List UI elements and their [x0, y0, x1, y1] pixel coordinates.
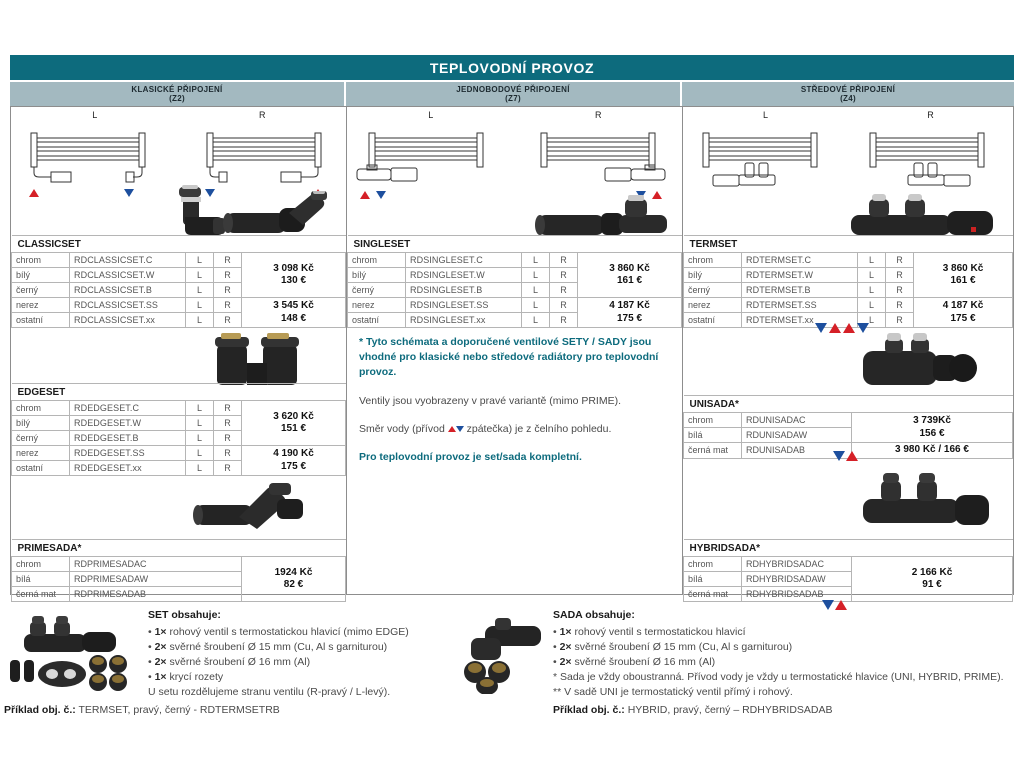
table-classicset: CLASSICSET chrom RDCLASSICSET.C L R 3 09…: [11, 235, 346, 328]
right-cell: R: [214, 461, 242, 476]
supply-marker-red: [448, 426, 456, 432]
left-cell: L: [186, 283, 214, 298]
diagram-right-label: R: [848, 110, 1013, 123]
code-cell: RDSINGLESET.W: [406, 268, 522, 283]
price-eur: 175 €: [918, 313, 1008, 326]
text: rohový ventil s termostatickou hlavicí: [575, 626, 746, 638]
table-edgeset: EDGESET chrom RDEDGESET.C L R 3 620 Kč 1…: [11, 383, 346, 476]
left-cell: L: [186, 298, 214, 313]
code-cell: RDCLASSICSET.B: [70, 283, 186, 298]
diagram-left-label: L: [683, 110, 848, 123]
qty: 1×: [155, 671, 167, 683]
left-cell: L: [522, 268, 550, 283]
main-banner: TEPLOVODNÍ PROVOZ: [10, 55, 1014, 80]
diagram-center: L: [683, 107, 1013, 235]
edgeset-title: EDGESET: [12, 384, 346, 401]
code-cell: RDUNISADAC: [742, 413, 852, 428]
table-row: nerez RDTERMSET.SS L R 4 187 Kč 175 €: [684, 298, 1013, 313]
singleset-title: SINGLESET: [348, 236, 682, 253]
finish-cell: chrom: [684, 557, 742, 572]
info-note: * Tyto schémata a doporučené ventilové S…: [359, 335, 671, 478]
table-row: chrom RDSINGLESET.C L R 3 860 Kč 161 €: [348, 253, 682, 268]
price-cell: 2 166 Kč 91 €: [852, 557, 1013, 602]
qty: 2×: [560, 641, 572, 653]
left-cell: L: [186, 431, 214, 446]
column-header-center: STŘEDOVÉ PŘIPOJENÍ (Z4): [682, 82, 1014, 106]
qty: 1×: [155, 626, 167, 638]
finish-cell: nerez: [12, 298, 70, 313]
left-cell: L: [186, 313, 214, 328]
table-primesada: PRIMESADA* chrom RDPRIMESADAC 1924 Kč 82…: [11, 539, 346, 602]
qty: 2×: [560, 656, 572, 668]
code-cell: RDTERMSET.B: [742, 283, 858, 298]
supply-marker-red: [846, 451, 858, 461]
example-set-value: TERMSET, pravý, černý - RDTERMSETRB: [79, 704, 280, 716]
text: rohový ventil s termostatickou hlavicí (…: [170, 626, 409, 638]
classicset-title: CLASSICSET: [12, 236, 346, 253]
text: krycí rozety: [170, 671, 224, 683]
left-cell: L: [522, 298, 550, 313]
left-cell: L: [858, 253, 886, 268]
column-single: L: [347, 107, 683, 594]
product-photo-sada-contents: [455, 616, 551, 694]
radiator-schematic-center-left: [683, 123, 848, 203]
left-cell: L: [186, 268, 214, 283]
product-photo-unisada: [859, 331, 983, 395]
product-photo-classicset-valve: [219, 191, 329, 239]
code-cell: RDTERMSET.C: [742, 253, 858, 268]
bottom-legend: SET obsahuje: • 1× rohový ventil s termo…: [0, 604, 1024, 768]
right-cell: R: [550, 313, 578, 328]
finish-cell: bílý: [12, 416, 70, 431]
price-czk: 3 098 Kč: [246, 263, 341, 276]
diagram-left-label: L: [347, 110, 515, 123]
list-item: • 2× svěrné šroubení Ø 15 mm (Cu, Al s g…: [553, 640, 1023, 655]
legend-sada-heading: SADA obsahuje:: [553, 608, 1023, 623]
price-czk: 3 620 Kč: [246, 411, 341, 424]
left-cell: L: [522, 313, 550, 328]
table-row: nerez RDCLASSICSET.SS L R 3 545 Kč 148 €: [12, 298, 346, 313]
code-cell: RDEDGESET.W: [70, 416, 186, 431]
right-cell: R: [214, 431, 242, 446]
code-cell: RDPRIMESADAW: [70, 572, 242, 587]
table-termset: TERMSET chrom RDTERMSET.C L R 3 860 Kč 1…: [683, 235, 1013, 328]
finish-cell: bílý: [684, 268, 742, 283]
code-cell: RDHYBRIDSADAC: [742, 557, 852, 572]
text: svěrné šroubení Ø 15 mm (Cu, Al s garnit…: [170, 641, 388, 653]
example-sada-label: Příklad obj. č.:: [553, 704, 625, 716]
finish-cell: černý: [12, 283, 70, 298]
price-cell: 4 187 Kč 175 €: [578, 298, 682, 328]
product-photo-set-contents: [6, 612, 142, 696]
finish-cell: ostatní: [348, 313, 406, 328]
qty: 2×: [155, 656, 167, 668]
catalog-page: TEPLOVODNÍ PROVOZ KLASICKÉ PŘIPOJENÍ (Z2…: [0, 0, 1024, 768]
price-cell: 3 620 Kč 151 €: [242, 401, 346, 446]
column-center: L: [683, 107, 1013, 594]
left-cell: L: [186, 446, 214, 461]
diagram-single: L: [347, 107, 682, 235]
code-cell: RDTERMSET.SS: [742, 298, 858, 313]
example-sada: Příklad obj. č.: HYBRID, pravý, černý – …: [553, 704, 833, 716]
right-cell: R: [886, 298, 914, 313]
table-row: chrom RDCLASSICSET.C L R 3 098 Kč 130 €: [12, 253, 346, 268]
code-cell: RDCLASSICSET.W: [70, 268, 186, 283]
code-cell: RDUNISADAW: [742, 428, 852, 443]
table-row: nerez RDEDGESET.SS L R 4 190 Kč 175 €: [12, 446, 346, 461]
finish-cell: chrom: [12, 401, 70, 416]
price-czk: 3 860 Kč: [918, 263, 1008, 276]
note-final-line: Pro teplovodní provoz je set/sada komple…: [359, 450, 671, 465]
supply-marker-red: [829, 323, 841, 333]
table-row: chrom RDTERMSET.C L R 3 860 Kč 161 €: [684, 253, 1013, 268]
product-photo-edgeset: [207, 329, 311, 389]
finish-cell: černá mat: [684, 587, 742, 602]
supply-marker-red: [360, 191, 370, 199]
table-unisada: UNISADA* chrom RDUNISADAC 3 739Kč 156 € …: [683, 395, 1013, 459]
legend-sada-footnote-2: ** V sadě UNI je termostatický ventil př…: [553, 685, 1023, 700]
code-cell: RDPRIMESADAB: [70, 587, 242, 602]
code-cell: RDSINGLESET.xx: [406, 313, 522, 328]
price-cell: 3 860 Kč 161 €: [914, 253, 1013, 298]
price-cell: 3 545 Kč 148 €: [242, 298, 346, 328]
price-cell: 4 190 Kč 175 €: [242, 446, 346, 476]
product-photo-hybridsada: [859, 467, 993, 539]
return-marker-blue: [376, 191, 386, 199]
product-photo-primesada: [189, 477, 309, 539]
table-row: chrom RDEDGESET.C L R 3 620 Kč 151 €: [12, 401, 346, 416]
table-row: chrom RDUNISADAC 3 739Kč 156 €: [684, 413, 1013, 428]
left-cell: L: [858, 283, 886, 298]
radiator-schematic-single-right: [515, 123, 683, 203]
right-cell: R: [214, 313, 242, 328]
price-eur: 130 €: [246, 275, 341, 288]
note-star-line: * Tyto schémata a doporučené ventilové S…: [359, 335, 671, 381]
finish-cell: nerez: [684, 298, 742, 313]
code-cell: RDPRIMESADAC: [70, 557, 242, 572]
return-marker-blue: [456, 426, 464, 432]
diagram-classic-left: L: [11, 107, 179, 208]
price-eur: 175 €: [582, 313, 677, 326]
termset-title: TERMSET: [684, 236, 1013, 253]
price-matt-cell: 3 980 Kč / 166 €: [852, 443, 1013, 459]
right-cell: R: [214, 416, 242, 431]
finish-cell: bílá: [684, 428, 742, 443]
right-cell: R: [550, 283, 578, 298]
supply-marker-red: [843, 323, 855, 333]
finish-cell: bílá: [684, 572, 742, 587]
price-eur: 148 €: [246, 313, 341, 326]
flow-markers-hybridsada-top: [833, 451, 859, 463]
price-eur: 91 €: [856, 579, 1008, 592]
column-header-center-code: (Z4): [840, 94, 856, 103]
right-cell: R: [214, 268, 242, 283]
left-cell: L: [186, 461, 214, 476]
table-singleset: SINGLESET chrom RDSINGLESET.C L R 3 860 …: [347, 235, 682, 328]
code-cell: RDCLASSICSET.C: [70, 253, 186, 268]
code-cell: RDCLASSICSET.xx: [70, 313, 186, 328]
finish-cell: chrom: [684, 253, 742, 268]
right-cell: R: [214, 283, 242, 298]
price-czk: 4 187 Kč: [918, 300, 1008, 313]
finish-cell: bílý: [12, 268, 70, 283]
column-classic: L: [11, 107, 347, 594]
code-cell: RDEDGESET.xx: [70, 461, 186, 476]
connection-type-header-row: KLASICKÉ PŘIPOJENÍ (Z2) JEDNOBODOVÉ PŘIP…: [10, 82, 1014, 106]
price-cell: 3 860 Kč 161 €: [578, 253, 682, 298]
diagram-single-left: L: [347, 107, 515, 208]
diagram-left-label: L: [11, 110, 179, 123]
price-cell: 3 098 Kč 130 €: [242, 253, 346, 298]
finish-cell: chrom: [348, 253, 406, 268]
left-cell: L: [858, 268, 886, 283]
list-item: • 1× rohový ventil s termostatickou hlav…: [553, 625, 1023, 640]
table-row: chrom RDHYBRIDSADAC 2 166 Kč 91 €: [684, 557, 1013, 572]
primesada-title: PRIMESADA*: [12, 540, 346, 557]
finish-cell: černá mat: [12, 587, 70, 602]
right-cell: R: [550, 253, 578, 268]
column-header-single-title: JEDNOBODOVÉ PŘIPOJENÍ: [456, 85, 569, 94]
product-photo-singleset: [533, 193, 673, 239]
price-eur: 161 €: [582, 275, 677, 288]
code-cell: RDSINGLESET.SS: [406, 298, 522, 313]
text: svěrné šroubení Ø 16 mm (Al): [575, 656, 716, 668]
left-cell: L: [522, 283, 550, 298]
table-row: chrom RDPRIMESADAC 1924 Kč 82 €: [12, 557, 346, 572]
example-set-label: Příklad obj. č.:: [4, 704, 76, 716]
finish-cell: černý: [684, 283, 742, 298]
right-cell: R: [886, 283, 914, 298]
diagram-classic: L: [11, 107, 346, 235]
left-cell: L: [522, 253, 550, 268]
left-cell: L: [858, 298, 886, 313]
finish-cell: chrom: [12, 253, 70, 268]
qty: 1×: [560, 626, 572, 638]
diagram-center-left: L: [683, 107, 848, 208]
right-cell: R: [886, 253, 914, 268]
left-cell: L: [186, 401, 214, 416]
note-line-3: Směr vody (přívod zpátečka) je z čelního…: [359, 422, 671, 437]
finish-cell: bílá: [12, 572, 70, 587]
price-czk: 4 187 Kč: [582, 300, 677, 313]
right-cell: R: [550, 268, 578, 283]
code-cell: RDCLASSICSET.SS: [70, 298, 186, 313]
column-header-single: JEDNOBODOVÉ PŘIPOJENÍ (Z7): [346, 82, 682, 106]
finish-cell: ostatní: [684, 313, 742, 328]
code-cell: RDSINGLESET.B: [406, 283, 522, 298]
legend-sada-list: • 1× rohový ventil s termostatickou hlav…: [553, 625, 1023, 670]
right-cell: R: [214, 298, 242, 313]
finish-cell: černý: [12, 431, 70, 446]
list-item: • 2× svěrné šroubení Ø 16 mm (Al): [553, 655, 1023, 670]
price-cell: 4 187 Kč 175 €: [914, 298, 1013, 328]
return-marker-blue: [833, 451, 845, 461]
finish-cell: nerez: [12, 446, 70, 461]
price-eur: 151 €: [246, 423, 341, 436]
right-cell: R: [214, 401, 242, 416]
finish-cell: ostatní: [12, 461, 70, 476]
column-header-single-code: (Z7): [505, 94, 521, 103]
supply-marker-red: [29, 189, 39, 197]
price-czk: 3 860 Kč: [582, 263, 677, 276]
price-czk: 3 545 Kč: [246, 300, 341, 313]
left-cell: L: [186, 253, 214, 268]
left-cell: L: [186, 416, 214, 431]
code-cell: RDEDGESET.SS: [70, 446, 186, 461]
code-cell: RDSINGLESET.C: [406, 253, 522, 268]
note-line-3-prefix: Směr vody (přívod: [359, 423, 448, 435]
code-cell: RDEDGESET.B: [70, 431, 186, 446]
finish-cell: černá mat: [684, 443, 742, 459]
price-czk: 3 739Kč: [856, 415, 1008, 428]
price-eur: 161 €: [918, 275, 1008, 288]
main-grid: L: [10, 106, 1014, 595]
example-set: Příklad obj. č.: TERMSET, pravý, černý -…: [4, 704, 280, 716]
right-cell: R: [886, 268, 914, 283]
unisada-title: UNISADA*: [684, 396, 1013, 413]
finish-cell: černý: [348, 283, 406, 298]
note-line-2: Ventily jsou vyobrazeny v pravé variantě…: [359, 394, 671, 409]
note-line-3-suffix: zpátečka) je z čelního pohledu.: [464, 423, 612, 435]
column-header-classic: KLASICKÉ PŘIPOJENÍ (Z2): [10, 82, 346, 106]
price-eur: 156 €: [856, 428, 1008, 441]
diagram-right-label: R: [179, 110, 347, 123]
finish-cell: ostatní: [12, 313, 70, 328]
table-row: nerez RDSINGLESET.SS L R 4 187 Kč 175 €: [348, 298, 682, 313]
column-header-center-title: STŘEDOVÉ PŘIPOJENÍ: [801, 85, 895, 94]
hybridsada-title: HYBRIDSADA*: [684, 540, 1013, 557]
price-czk: 2 166 Kč: [856, 567, 1008, 580]
right-cell: R: [886, 313, 914, 328]
text: svěrné šroubení Ø 16 mm (Al): [170, 656, 311, 668]
product-photo-termset: [843, 189, 1003, 239]
price-eur: 175 €: [246, 461, 341, 474]
finish-cell: chrom: [12, 557, 70, 572]
code-cell: RDTERMSET.W: [742, 268, 858, 283]
text: svěrné šroubení Ø 15 mm (Cu, Al s garnit…: [575, 641, 793, 653]
banner-title: TEPLOVODNÍ PROVOZ: [430, 60, 594, 76]
diagram-right-label: R: [515, 110, 683, 123]
price-czk: 1924 Kč: [246, 567, 341, 580]
example-sada-value: HYBRID, pravý, černý – RDHYBRIDSADAB: [628, 704, 833, 716]
radiator-schematic-classic-left: [11, 123, 179, 203]
right-cell: R: [214, 446, 242, 461]
finish-cell: bílý: [348, 268, 406, 283]
legend-sada-footnote-1: * Sada je vždy oboustranná. Přívod vody …: [553, 670, 1023, 685]
price-cell: 3 739Kč 156 €: [852, 413, 1013, 443]
legend-sada: SADA obsahuje: • 1× rohový ventil s term…: [553, 608, 1023, 699]
return-marker-blue: [124, 189, 134, 197]
finish-cell: chrom: [684, 413, 742, 428]
return-marker-blue: [815, 323, 827, 333]
price-cell: 1924 Kč 82 €: [242, 557, 346, 602]
column-header-classic-title: KLASICKÉ PŘIPOJENÍ: [131, 85, 222, 94]
table-hybridsada: HYBRIDSADA* chrom RDHYBRIDSADAC 2 166 Kč…: [683, 539, 1013, 602]
price-czk: 4 190 Kč: [246, 448, 341, 461]
column-header-classic-code: (Z2): [169, 94, 185, 103]
right-cell: R: [550, 298, 578, 313]
finish-cell: nerez: [348, 298, 406, 313]
code-cell: RDHYBRIDSADAW: [742, 572, 852, 587]
qty: 2×: [155, 641, 167, 653]
price-eur: 82 €: [246, 579, 341, 592]
code-cell: RDEDGESET.C: [70, 401, 186, 416]
right-cell: R: [214, 253, 242, 268]
radiator-schematic-single-left: [347, 123, 515, 203]
